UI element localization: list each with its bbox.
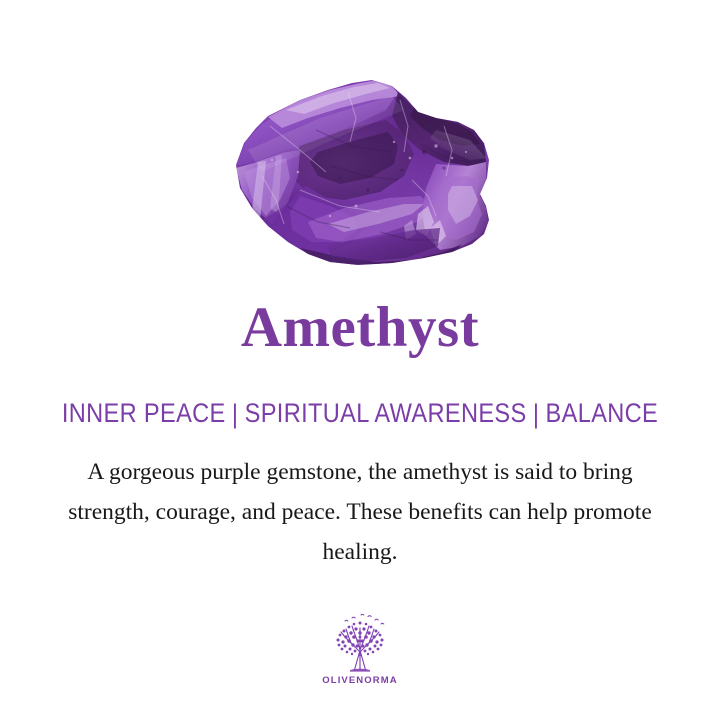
olive-tree-logo-icon xyxy=(323,612,397,674)
keyword-inner-peace: INNER PEACE xyxy=(62,398,226,428)
amethyst-gemstone-image xyxy=(0,0,720,285)
brand-name: OLIVENORMA xyxy=(0,675,720,686)
keyword-balance: BALANCE xyxy=(546,398,659,428)
amethyst-info-card: Amethyst INNER PEACE|SPIRITUAL AWARENESS… xyxy=(0,0,720,720)
brand-logo: OLIVENORMA xyxy=(0,612,720,686)
keyword-separator: | xyxy=(527,400,546,429)
description-text: A gorgeous purple gemstone, the amethyst… xyxy=(50,452,670,572)
keyword-list: INNER PEACE|SPIRITUAL AWARENESS|BALANCE xyxy=(40,399,681,428)
keyword-separator: | xyxy=(226,400,245,429)
keyword-spiritual-awareness: SPIRITUAL AWARENESS xyxy=(245,398,527,428)
amethyst-gemstone-svg xyxy=(0,0,720,285)
page-title: Amethyst xyxy=(0,296,720,360)
